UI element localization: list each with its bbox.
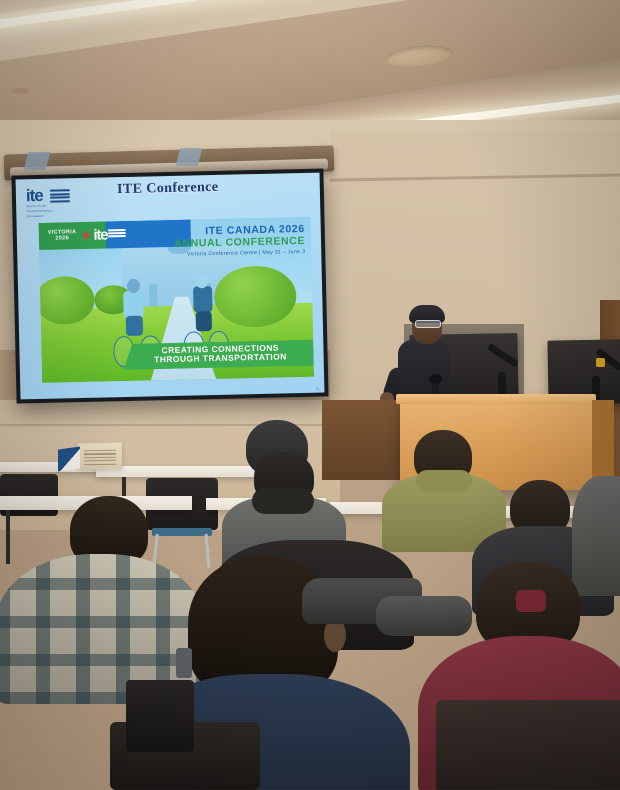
poster-tagline-banner: CREATING CONNECTIONS THROUGH TRANSPORTAT… — [123, 339, 314, 370]
table-tent-sign — [58, 446, 80, 471]
microphone-icon — [429, 374, 442, 384]
ite-logo: ite INSTITUTE OF TRANSPORTATION ENGINEER… — [26, 186, 69, 221]
poster-heading-line2: ANNUAL CONFERENCE — [174, 235, 305, 250]
poster-tagline-line2: THROUGH TRANSPORTATION — [133, 352, 308, 366]
body-grey-top — [572, 476, 620, 596]
hair-clip — [516, 590, 546, 612]
poster-badge-year: 2026 — [55, 235, 69, 241]
table-placard — [78, 443, 122, 470]
projection-screen[interactable]: ITE Conference ite INSTITUTE OF TRANSPOR… — [11, 168, 328, 403]
screen-bracket — [24, 152, 50, 170]
maple-leaf-icon — [81, 231, 90, 240]
hood-collar — [416, 470, 472, 492]
lecture-room-photo: ITE Conference ite INSTITUTE OF TRANSPOR… — [0, 0, 620, 790]
conference-poster: VICTORIA 2026 ite ITE CANADA 2026 ANNUAL… — [39, 217, 315, 383]
podium-top-edge — [396, 394, 596, 404]
glasses-icon — [415, 320, 441, 328]
poster-heading-block: ITE CANADA 2026 ANNUAL CONFERENCE Victor… — [174, 223, 305, 258]
chair-leg — [205, 534, 211, 568]
bag-on-table — [376, 596, 472, 636]
placard-text-lines — [84, 450, 116, 467]
screen-bracket — [176, 148, 202, 166]
hood-collar — [252, 488, 314, 514]
ceiling-sprinkler-icon — [12, 88, 28, 94]
phone-icon[interactable] — [176, 648, 192, 678]
poster-ite-logo: ite — [93, 228, 107, 243]
poster-ite-speedlines-icon — [107, 229, 125, 239]
ite-logo-speedlines-icon — [50, 189, 70, 203]
ite-logo-subtext-3: ENGINEERS — [26, 214, 68, 219]
slide-page-number: 11 — [316, 387, 320, 391]
chair-front-right — [436, 700, 620, 790]
table-back-center — [96, 466, 276, 477]
poster-badge-city-year: VICTORIA 2026 — [39, 230, 77, 242]
slide-content: ITE Conference ite INSTITUTE OF TRANSPOR… — [16, 173, 325, 400]
laptop-closed — [126, 680, 194, 752]
podium-side-dark — [322, 400, 402, 480]
poster-badge-banner: VICTORIA 2026 ite — [39, 220, 192, 251]
monitor-arm-knob — [596, 358, 605, 367]
tent-sign-graphic — [58, 446, 80, 471]
chair-seat — [152, 528, 212, 536]
table-leg — [6, 510, 10, 564]
